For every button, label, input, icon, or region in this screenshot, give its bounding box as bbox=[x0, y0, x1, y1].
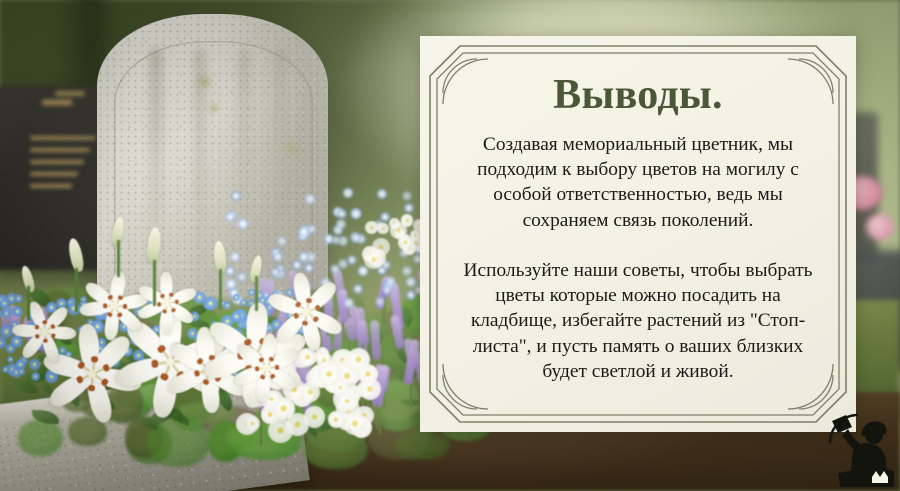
lavender-stem bbox=[379, 404, 381, 434]
delphinium-floret bbox=[406, 277, 416, 287]
card-title: Выводы. bbox=[553, 74, 723, 116]
delphinium-floret bbox=[231, 191, 241, 201]
card-paragraph-1: Создавая мемориальный цветник, мы подход… bbox=[452, 132, 824, 233]
white-lily bbox=[223, 325, 310, 412]
stonemason-logo bbox=[828, 413, 896, 489]
stone-weather-streak bbox=[237, 48, 251, 238]
lily-stem bbox=[255, 276, 258, 311]
white-petunia bbox=[245, 416, 260, 431]
forget-me-not bbox=[2, 366, 9, 373]
white-petunia bbox=[347, 348, 370, 371]
white-lily bbox=[130, 266, 204, 340]
lily-stem bbox=[27, 286, 30, 321]
delphinium-floret bbox=[347, 255, 357, 265]
stone-weather-streak bbox=[273, 48, 287, 208]
delphinium-floret bbox=[230, 252, 240, 262]
delphinium-floret bbox=[353, 284, 363, 294]
delphinium-floret bbox=[375, 297, 385, 307]
rose-blossom bbox=[866, 214, 894, 240]
white-petunia bbox=[339, 393, 355, 409]
delphinium-floret bbox=[336, 219, 346, 229]
conclusion-card: Выводы. Создавая мемориальный цветник, м… bbox=[420, 36, 856, 432]
moss-patch bbox=[207, 102, 221, 114]
white-petunia bbox=[343, 412, 366, 435]
lily-stem bbox=[75, 268, 78, 312]
delphinium-floret bbox=[307, 224, 317, 234]
white-bloom bbox=[390, 222, 407, 239]
moss-patch bbox=[283, 134, 301, 160]
delphinium-floret bbox=[277, 236, 287, 246]
lily-centre bbox=[162, 298, 171, 307]
white-petunia bbox=[359, 378, 381, 400]
white-bloom bbox=[377, 223, 388, 234]
delphinium-floret bbox=[225, 266, 235, 276]
image-canvas: Выводы. Создавая мемориальный цветник, м… bbox=[0, 0, 900, 491]
lily-stem bbox=[117, 240, 120, 277]
lily-stem bbox=[219, 269, 222, 311]
forget-me-not bbox=[0, 340, 3, 347]
lavender-stem bbox=[410, 381, 412, 409]
lily-stem bbox=[153, 260, 156, 306]
card-paragraph-2: Используйте наши советы, чтобы выбрать ц… bbox=[452, 258, 824, 384]
card-content: Выводы. Создавая мемориальный цветник, м… bbox=[450, 56, 826, 410]
delphinium-floret bbox=[402, 266, 412, 276]
delphinium-floret bbox=[382, 285, 392, 295]
stone-weather-streak bbox=[193, 48, 207, 288]
moss-patch bbox=[193, 74, 215, 90]
white-petunia bbox=[268, 418, 293, 443]
white-petunia bbox=[328, 411, 344, 427]
white-bloom bbox=[364, 250, 383, 269]
forget-me-not bbox=[7, 356, 14, 363]
delphinium-floret bbox=[351, 233, 361, 243]
